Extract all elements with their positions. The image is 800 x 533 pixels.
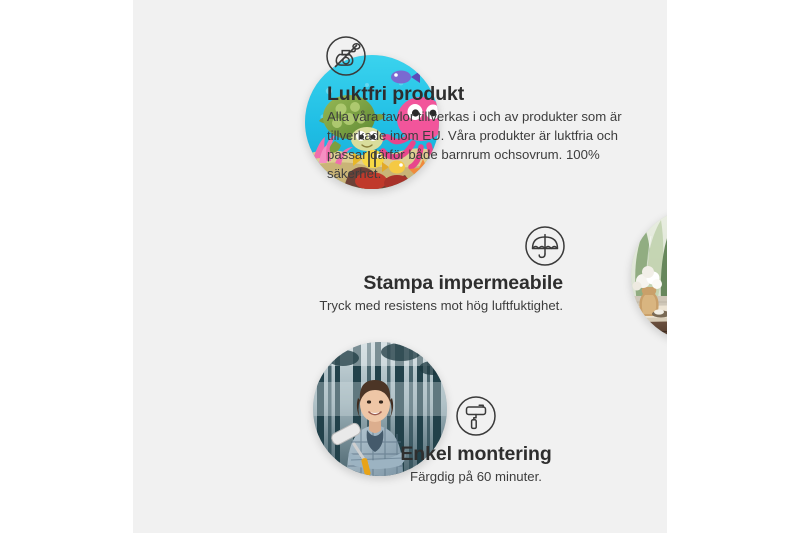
feature-title: Enkel montering — [331, 443, 621, 466]
feature-easy-mounting: Enkel montering Färgdig på 60 minuter. — [331, 395, 621, 487]
bathroom-leaf-wallpaper-photo — [631, 208, 667, 342]
feature-body: Tryck med resistens mot hög luftfuktighe… — [218, 297, 563, 316]
feature-body: Alla våra tavlor tillverkas i och av pro… — [327, 108, 627, 183]
umbrella-icon — [524, 225, 566, 267]
infographic-canvas: Luktfri produkt Alla våra tavlor tillver… — [133, 0, 667, 533]
paint-roller-icon — [455, 395, 497, 437]
feature-waterproof: Stampa impermeabile Tryck med resistens … — [218, 225, 563, 316]
feature-title: Luktfri produkt — [327, 83, 627, 106]
feature-title: Stampa impermeabile — [218, 272, 563, 295]
feature-odorless: Luktfri produkt Alla våra tavlor tillver… — [327, 35, 627, 183]
feature-body: Färgdig på 60 minuter. — [331, 468, 621, 487]
promo-infographic: Luktfri produkt Alla våra tavlor tillver… — [0, 0, 800, 533]
no-spray-bottle-icon — [325, 35, 367, 77]
